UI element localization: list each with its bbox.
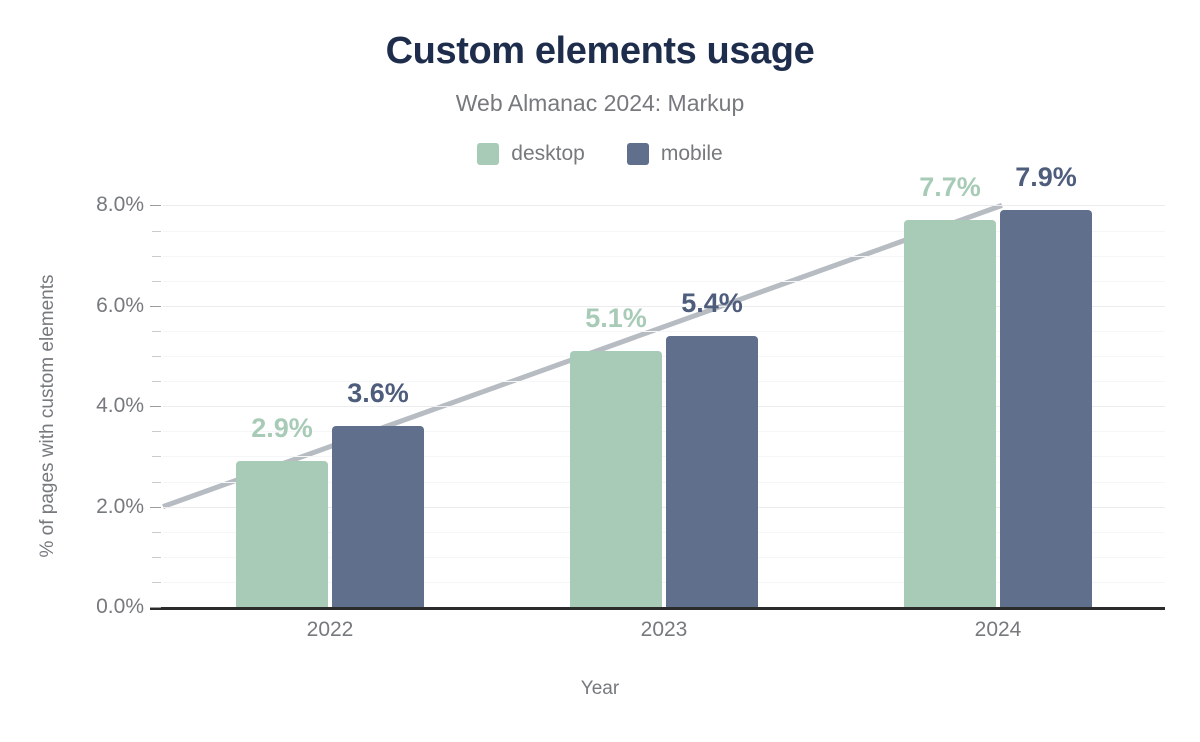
y-axis-tick-label: 2.0% bbox=[96, 495, 144, 519]
x-axis-line bbox=[150, 607, 1165, 610]
y-axis-tick bbox=[152, 431, 161, 432]
x-axis-category-2023: 2023 bbox=[641, 618, 688, 642]
bar-mobile-2022[interactable] bbox=[332, 426, 424, 607]
y-axis-tick-label: 4.0% bbox=[96, 394, 144, 418]
bar-value-label-desktop-2022: 2.9% bbox=[251, 413, 313, 444]
y-axis-tick bbox=[150, 306, 161, 307]
x-axis-title: Year bbox=[0, 678, 1200, 700]
bar-mobile-2024[interactable] bbox=[1000, 210, 1092, 607]
chart-subtitle: Web Almanac 2024: Markup bbox=[0, 90, 1200, 117]
y-axis-tick bbox=[150, 406, 161, 407]
y-axis-tick bbox=[152, 281, 161, 282]
x-axis-category-2024: 2024 bbox=[975, 618, 1022, 642]
y-axis-tick-label: 8.0% bbox=[96, 193, 144, 217]
bar-value-label-mobile-2022: 3.6% bbox=[347, 378, 409, 409]
y-axis-tick bbox=[152, 456, 161, 457]
legend-swatch-desktop bbox=[477, 143, 499, 165]
y-axis-tick bbox=[152, 331, 161, 332]
bar-desktop-2023[interactable] bbox=[570, 351, 662, 607]
y-axis-tick bbox=[152, 231, 161, 232]
bar-value-label-mobile-2023: 5.4% bbox=[681, 288, 743, 319]
bar-desktop-2022[interactable] bbox=[236, 461, 328, 607]
y-axis-tick bbox=[150, 507, 161, 508]
x-axis-category-2022: 2022 bbox=[307, 618, 354, 642]
bar-desktop-2024[interactable] bbox=[904, 220, 996, 607]
gridline bbox=[163, 205, 1165, 206]
legend-item-mobile[interactable]: mobile bbox=[627, 142, 723, 166]
bar-value-label-desktop-2024: 7.7% bbox=[919, 172, 981, 203]
y-axis-tick bbox=[152, 381, 161, 382]
bar-mobile-2023[interactable] bbox=[666, 336, 758, 607]
y-axis-tick bbox=[152, 557, 161, 558]
y-axis-tick bbox=[150, 607, 161, 608]
bar-value-label-desktop-2023: 5.1% bbox=[585, 303, 647, 334]
y-axis-tick bbox=[152, 582, 161, 583]
y-axis-tick bbox=[152, 532, 161, 533]
chart-title: Custom elements usage bbox=[0, 30, 1200, 73]
y-axis-tick bbox=[150, 205, 161, 206]
y-axis-tick-label: 6.0% bbox=[96, 294, 144, 318]
legend-item-desktop[interactable]: desktop bbox=[477, 142, 585, 166]
legend-swatch-mobile bbox=[627, 143, 649, 165]
y-axis-tick-label: 0.0% bbox=[96, 595, 144, 619]
y-axis-tick bbox=[152, 256, 161, 257]
legend-label-mobile: mobile bbox=[661, 142, 723, 166]
chart-container: Custom elements usage Web Almanac 2024: … bbox=[0, 0, 1200, 742]
y-axis-tick bbox=[152, 482, 161, 483]
y-axis-tick bbox=[152, 356, 161, 357]
bar-value-label-mobile-2024: 7.9% bbox=[1015, 162, 1077, 193]
legend-label-desktop: desktop bbox=[511, 142, 585, 166]
y-axis-title: % of pages with custom elements bbox=[37, 156, 59, 676]
